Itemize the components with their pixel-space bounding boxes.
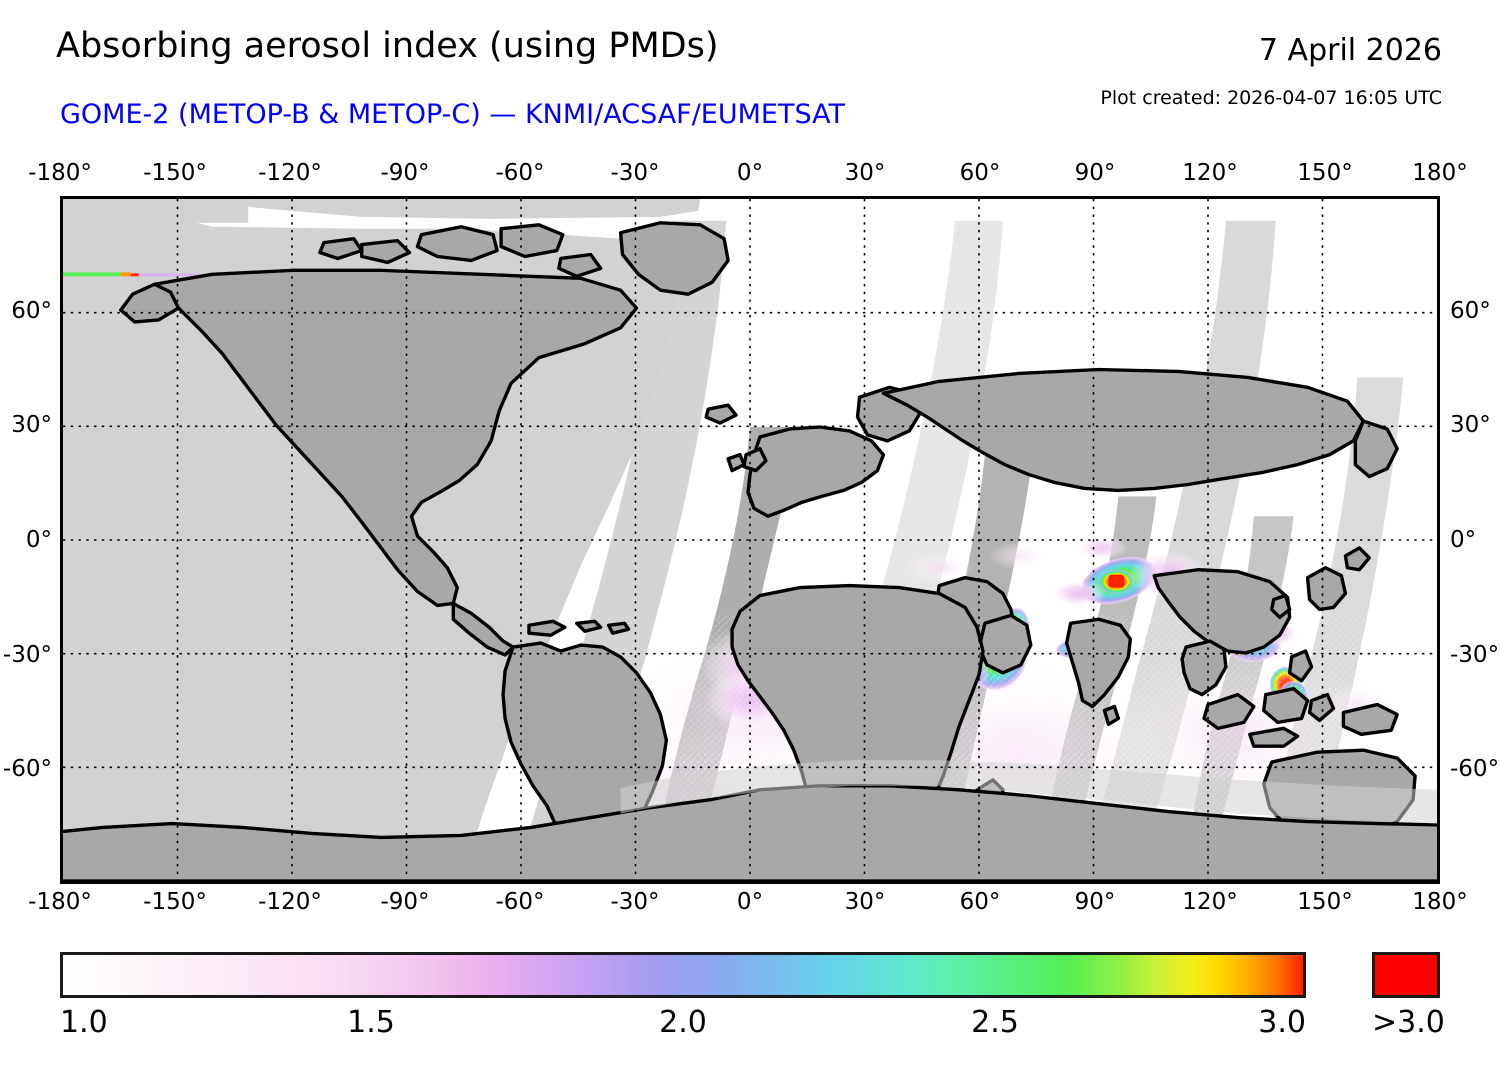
instrument-subtitle: GOME-2 (METOP-B & METOP-C) — KNMI/ACSAF/… [60,99,845,130]
lon-tick-bottom-5: -30° [610,889,659,915]
world-map-panel [60,196,1440,884]
lat-tick-right-30: 30° [1450,412,1491,438]
observation-date: 7 April 2026 [1259,33,1442,68]
lat-tick-left-m30: -30° [3,642,52,668]
lat-tick-left-0: 0° [26,527,52,553]
lon-tick-top-9: 90° [1075,160,1116,186]
lon-tick-top-5: -30° [610,160,659,186]
lon-tick-bottom-8: 60° [960,889,1001,915]
plot-created-timestamp: Plot created: 2026-04-07 16:05 UTC [1100,87,1442,109]
colorbar-tick-5: 3.0 [1258,1005,1306,1040]
lon-tick-top-11: 150° [1297,160,1352,186]
unobserved-region-northwest [63,199,248,223]
lon-tick-top-8: 60° [960,160,1001,186]
lon-tick-bottom-11: 150° [1297,889,1352,915]
lon-tick-bottom-9: 90° [1075,889,1116,915]
aerosol-index-map [63,199,1437,881]
lat-tick-left-m60: -60° [3,756,52,782]
colorbar-tick-4: 2.5 [971,1005,1019,1040]
lon-tick-top-4: -60° [495,160,544,186]
colorbar-tick-2: 1.5 [347,1005,395,1040]
lon-tick-bottom-4: -60° [495,889,544,915]
colorbar-tick-1: 1.0 [60,1005,108,1040]
lon-tick-top-0: -180° [28,160,92,186]
lon-tick-bottom-0: -180° [28,889,92,915]
colorbar-overflow-swatch [1372,952,1440,998]
lon-tick-bottom-6: 0° [737,889,763,915]
lon-tick-top-6: 0° [737,160,763,186]
colorbar-tick-3: 2.0 [659,1005,707,1040]
lon-tick-top-3: -90° [380,160,429,186]
lon-tick-bottom-2: -120° [258,889,322,915]
lat-tick-left-60: 60° [11,298,52,324]
lon-tick-bottom-3: -90° [380,889,429,915]
lon-tick-top-2: -120° [258,160,322,186]
page-title: Absorbing aerosol index (using PMDs) [56,26,719,66]
colorbar [60,952,1306,998]
aerosol-index-plot: Absorbing aerosol index (using PMDs) GOM… [0,0,1500,1065]
lon-tick-top-7: 30° [845,160,886,186]
lon-tick-bottom-1: -150° [143,889,207,915]
lat-tick-right-m30: -30° [1450,642,1499,668]
lat-tick-right-0: 0° [1450,527,1476,553]
lon-tick-bottom-10: 120° [1182,889,1237,915]
lon-tick-top-1: -150° [143,160,207,186]
colorbar-overflow-label: >3.0 [1372,1005,1445,1040]
lon-tick-bottom-12: 180° [1412,889,1467,915]
lon-tick-top-12: 180° [1412,160,1467,186]
lat-tick-right-m60: -60° [1450,756,1499,782]
lat-tick-right-60: 60° [1450,298,1491,324]
lon-tick-bottom-7: 30° [845,889,886,915]
lat-tick-left-30: 30° [11,412,52,438]
lon-tick-top-10: 120° [1182,160,1237,186]
colorbar-gradient [63,955,1303,995]
